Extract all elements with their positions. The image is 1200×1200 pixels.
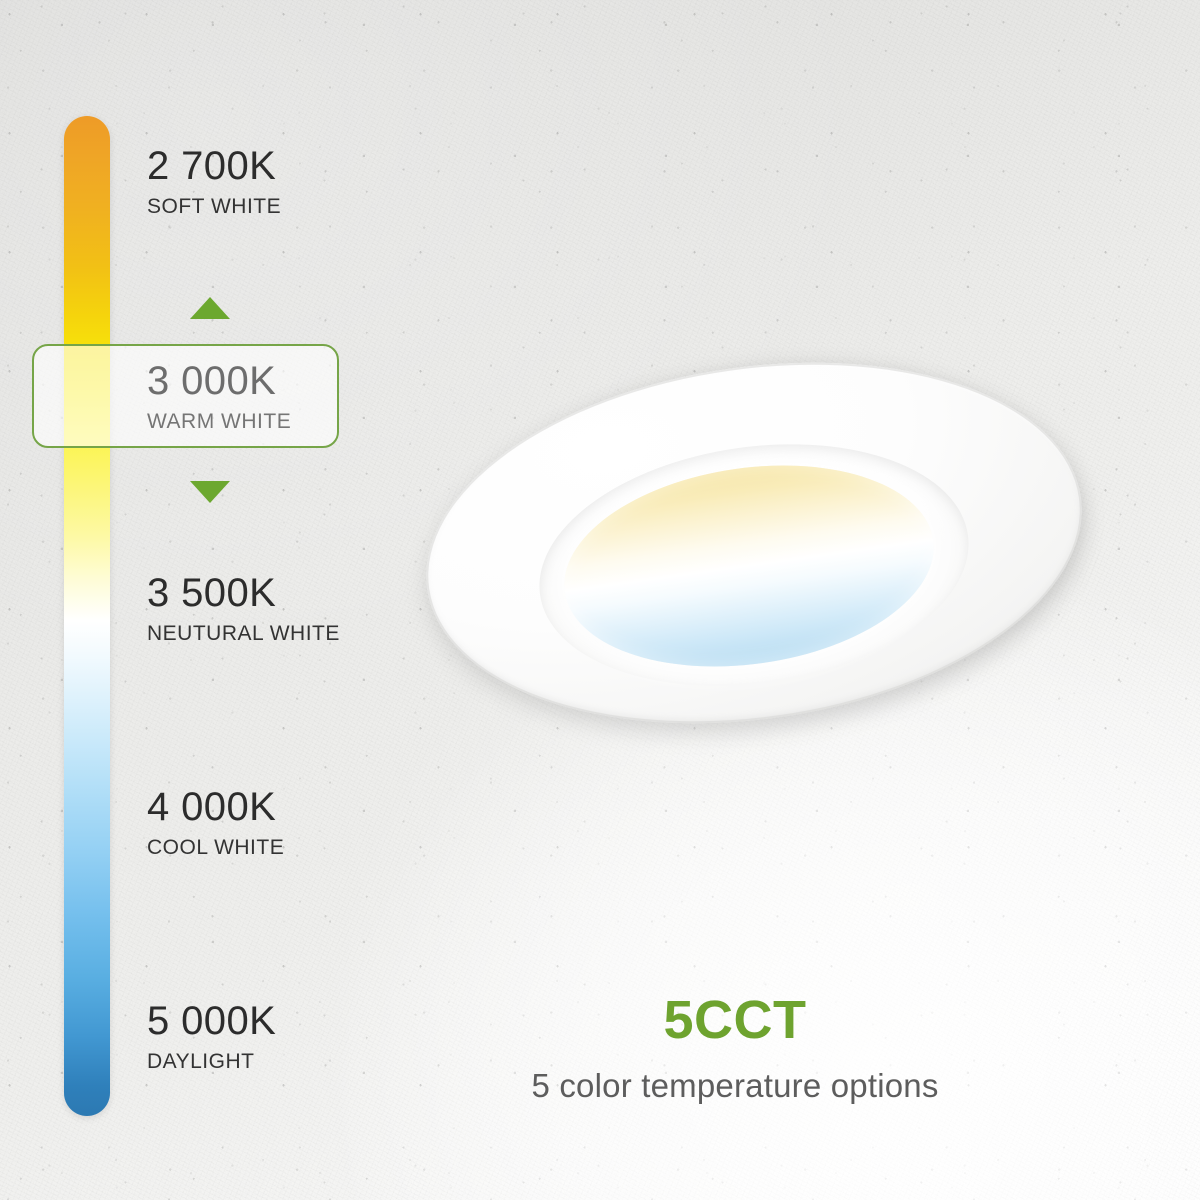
- cct-kelvin-value: 3 500K: [147, 572, 340, 614]
- cct-kelvin-value: 5 000K: [147, 1000, 276, 1042]
- cct-kelvin-value: 4 000K: [147, 786, 284, 828]
- cct-gradient-bar[interactable]: [64, 116, 110, 1116]
- product-feature-graphic: 2 700K SOFT WHITE 3 000K WARM WHITE 3 50…: [0, 0, 1200, 1200]
- cct-item-3500k[interactable]: 3 500K NEUTURAL WHITE: [147, 572, 340, 644]
- cct-name-label: DAYLIGHT: [147, 1051, 276, 1072]
- triangle-down-icon[interactable]: [190, 481, 230, 503]
- cct-item-3000k[interactable]: 3 000K WARM WHITE: [147, 360, 291, 432]
- cct-name-label: NEUTURAL WHITE: [147, 623, 340, 644]
- downlight-fixture: [418, 355, 1098, 755]
- cct-kelvin-value: 2 700K: [147, 145, 281, 187]
- caption-block: 5CCT 5 color temperature options: [470, 993, 1000, 1102]
- cct-item-5000k[interactable]: 5 000K DAYLIGHT: [147, 1000, 276, 1072]
- cct-kelvin-value: 3 000K: [147, 360, 291, 402]
- cct-item-2700k[interactable]: 2 700K SOFT WHITE: [147, 145, 281, 217]
- cct-item-4000k[interactable]: 4 000K COOL WHITE: [147, 786, 284, 858]
- cct-name-label: COOL WHITE: [147, 837, 284, 858]
- cct-name-label: WARM WHITE: [147, 411, 291, 432]
- cct-name-label: SOFT WHITE: [147, 196, 281, 217]
- cct-headline: 5CCT: [470, 993, 1000, 1047]
- triangle-up-icon[interactable]: [190, 297, 230, 319]
- cct-subheadline: 5 color temperature options: [470, 1069, 1000, 1102]
